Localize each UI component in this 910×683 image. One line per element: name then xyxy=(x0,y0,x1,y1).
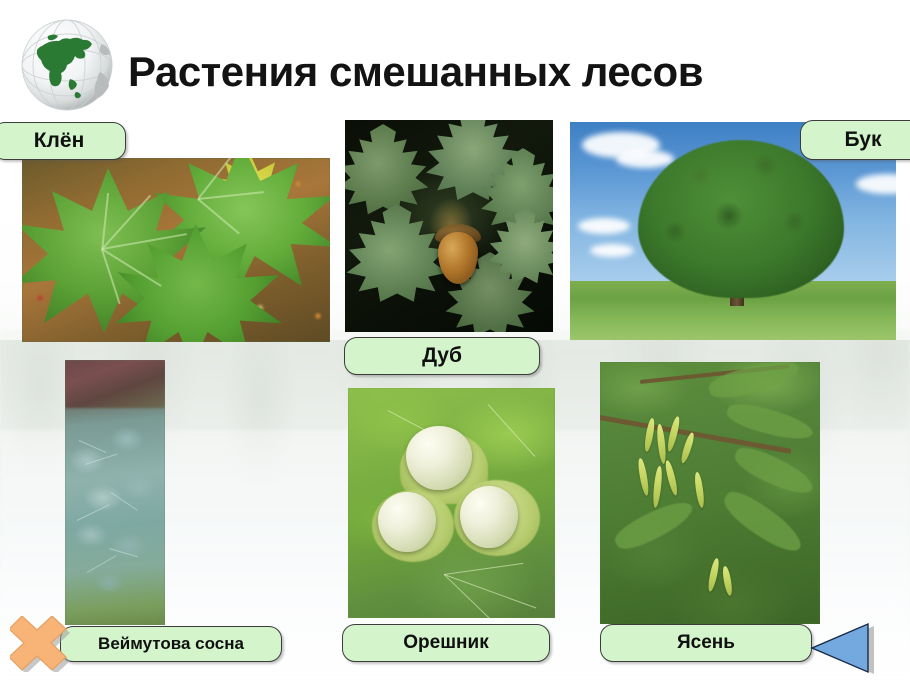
cloud-5 xyxy=(578,218,630,234)
cloud-2 xyxy=(616,150,674,168)
label-ash[interactable]: Ясень xyxy=(600,624,812,662)
hazelnut-left xyxy=(378,492,436,552)
hazelnut-right xyxy=(460,486,518,548)
hazelnut-top xyxy=(406,426,472,490)
label-beech[interactable]: Бук xyxy=(800,120,910,160)
photo-pine xyxy=(65,360,165,625)
label-maple[interactable]: Клён xyxy=(0,122,126,160)
label-oak[interactable]: Дуб xyxy=(344,337,540,375)
globe-north-america-icon xyxy=(18,16,116,114)
x-mark-icon[interactable] xyxy=(10,616,74,672)
left-arrow-icon[interactable] xyxy=(802,622,880,674)
pine-background-shrub xyxy=(65,360,165,408)
page-title: Растения смешанных лесов xyxy=(128,48,703,96)
label-hazel[interactable]: Орешник xyxy=(342,624,550,662)
photo-maple xyxy=(22,158,330,342)
slide-canvas: Растения смешанных лесов xyxy=(0,0,910,683)
photo-oak xyxy=(345,120,553,332)
photo-hazel xyxy=(348,388,555,618)
photo-ash xyxy=(600,362,820,624)
label-pine[interactable]: Веймутова сосна xyxy=(60,626,282,662)
cloud-6 xyxy=(590,244,634,257)
